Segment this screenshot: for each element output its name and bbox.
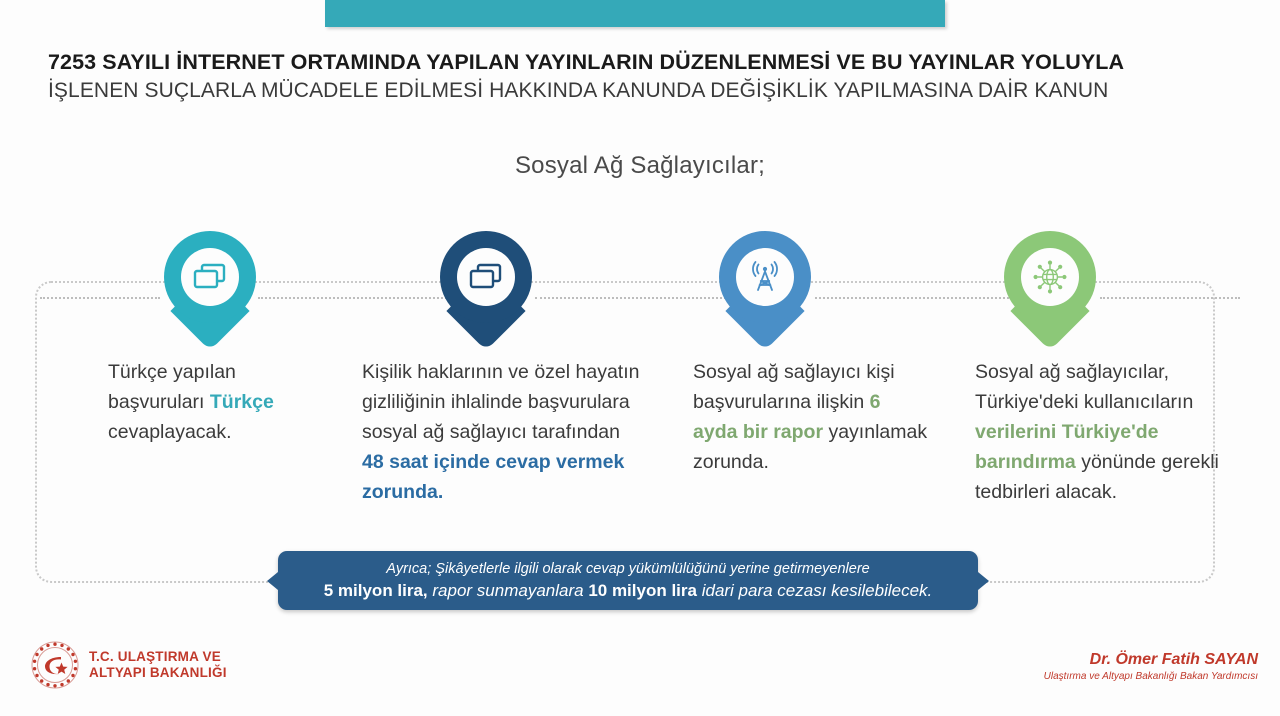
banner-arrow-right-icon	[978, 572, 989, 590]
col4-text-before: Sosyal ağ sağlayıcılar, Türkiye'deki kul…	[975, 361, 1193, 413]
col2-highlight: 48 saat içinde cevap vermek zorunda.	[362, 451, 624, 503]
signature-name: Dr. Ömer Fatih SAYAN	[1044, 650, 1258, 670]
banner-amount-1: 5 milyon lira,	[324, 581, 428, 600]
banner-line-1: Ayrıca; Şikâyetlerle ilgili olarak cevap…	[386, 559, 869, 579]
signature-block: Dr. Ömer Fatih SAYAN Ulaştırma ve Altyap…	[1044, 650, 1258, 684]
stacked-cards-icon	[457, 248, 515, 306]
title-line-1: 7253 SAYILI İNTERNET ORTAMINDA YAPILAN Y…	[48, 48, 1238, 76]
col2-text-before: Kişilik haklarının ve özel hayatın gizli…	[362, 361, 639, 443]
banner-end-text: idari para cezası kesilebilecek.	[697, 581, 932, 600]
page-title: 7253 SAYILI İNTERNET ORTAMINDA YAPILAN Y…	[48, 48, 1238, 106]
broadcast-tower-icon	[736, 248, 794, 306]
banner-amount-2: 10 milyon lira	[588, 581, 697, 600]
marker-pin-1	[164, 231, 256, 343]
col1-highlight: Türkçe	[210, 391, 274, 413]
section-subtitle: Sosyal Ağ Sağlayıcılar;	[0, 152, 1280, 180]
column-text-2: Kişilik haklarının ve özel hayatın gizli…	[362, 357, 644, 507]
ministry-name-line-1: T.C. ULAŞTIRMA VE	[89, 649, 227, 665]
banner-line-2: 5 milyon lira, rapor sunmayanlara 10 mil…	[324, 579, 933, 602]
marker-pin-4	[1004, 231, 1096, 343]
col1-text-after: cevaplayacak.	[108, 421, 232, 443]
ministry-name: T.C. ULAŞTIRMA VE ALTYAPI BAKANLIĞI	[89, 649, 227, 681]
marker-pin-3	[719, 231, 811, 343]
header-accent-bar	[325, 0, 945, 27]
ministry-logo: T.C. ULAŞTIRMA VE ALTYAPI BAKANLIĞI	[30, 640, 227, 690]
column-text-3: Sosyal ağ sağlayıcı kişi başvurularına i…	[693, 357, 928, 477]
stacked-cards-icon	[181, 248, 239, 306]
marker-pin-2	[440, 231, 532, 343]
signature-role: Ulaştırma ve Altyapı Bakanlığı Bakan Yar…	[1044, 670, 1258, 684]
banner-arrow-left-icon	[267, 572, 278, 590]
title-line-2: İŞLENEN SUÇLARLA MÜCADELE EDİLMESİ HAKKI…	[48, 76, 1238, 106]
globe-network-icon	[1021, 248, 1079, 306]
col3-text-before: Sosyal ağ sağlayıcı kişi başvurularına i…	[693, 361, 895, 413]
ministry-emblem-icon	[30, 640, 80, 690]
column-text-1: Türkçe yapılan başvuruları Türkçe cevapl…	[108, 357, 323, 447]
column-text-4: Sosyal ağ sağlayıcılar, Türkiye'deki kul…	[975, 357, 1220, 507]
penalty-banner: Ayrıca; Şikâyetlerle ilgili olarak cevap…	[278, 551, 978, 610]
ministry-name-line-2: ALTYAPI BAKANLIĞI	[89, 665, 227, 681]
banner-mid-text: rapor sunmayanlara	[428, 581, 589, 600]
